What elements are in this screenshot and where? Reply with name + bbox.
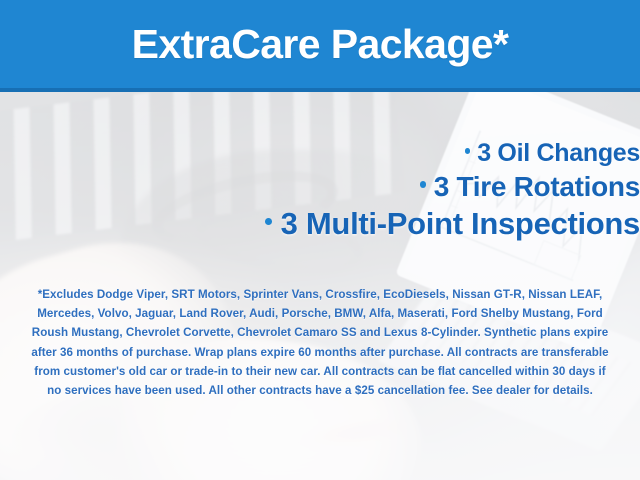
page-title: ExtraCare Package* xyxy=(122,24,519,65)
bullet-dot-icon xyxy=(265,218,272,225)
header-band: ExtraCare Package* xyxy=(0,0,640,88)
disclaimer-text: *Excludes Dodge Viper, SRT Motors, Sprin… xyxy=(28,285,612,400)
benefit-label: 3 Oil Changes xyxy=(477,139,640,167)
list-item: 3 Multi-Point Inspections xyxy=(0,204,640,243)
benefit-label: 3 Tire Rotations xyxy=(434,171,640,202)
bullet-dot-icon xyxy=(420,181,426,187)
benefit-label: 3 Multi-Point Inspections xyxy=(281,206,640,241)
list-item: 3 Tire Rotations xyxy=(0,169,640,204)
header-divider-rule xyxy=(0,88,640,92)
benefits-list: 3 Oil Changes 3 Tire Rotations 3 Multi-P… xyxy=(0,138,640,243)
extracare-package-promo-graphic: ExtraCare Package* 3 Oil Changes 3 Tire … xyxy=(0,0,640,480)
list-item: 3 Oil Changes xyxy=(0,138,640,169)
bullet-dot-icon xyxy=(465,148,471,154)
